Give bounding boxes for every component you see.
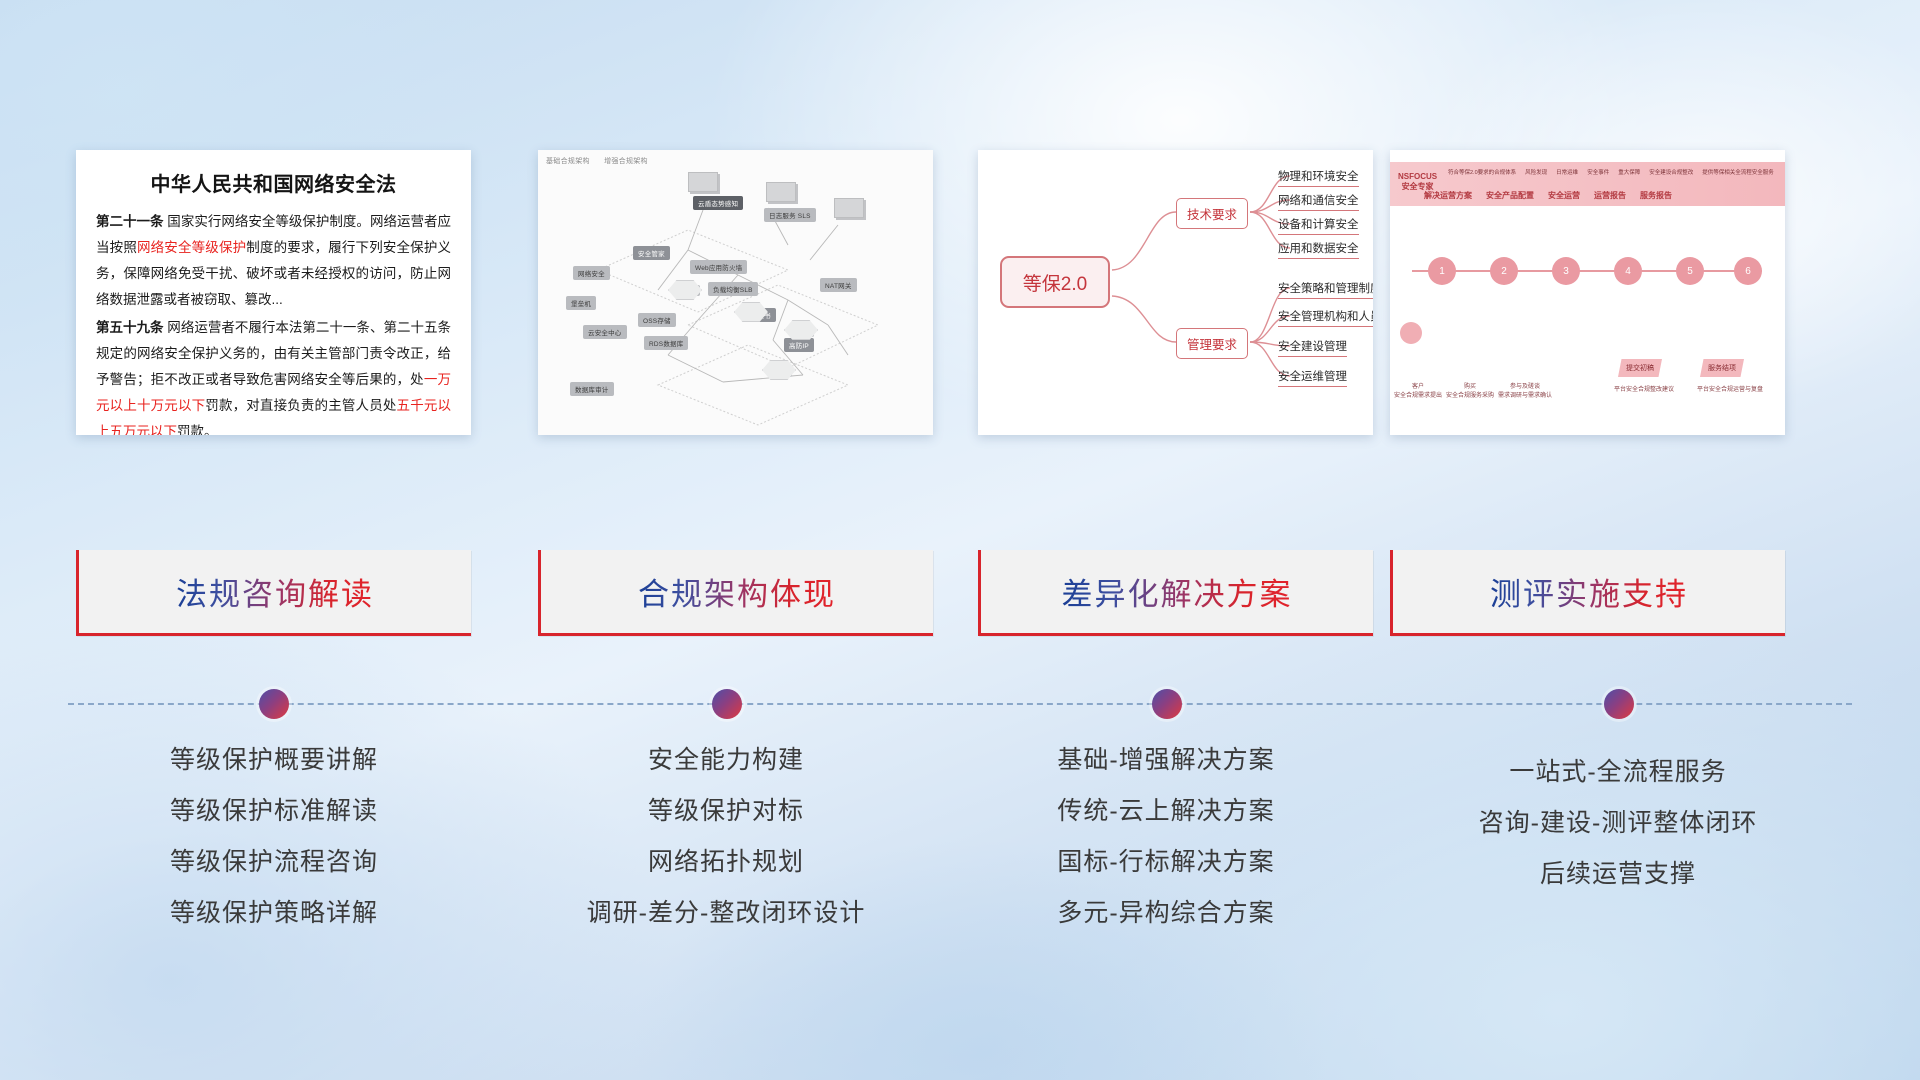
law-article-59-seg-4: 罚款。 <box>177 424 218 435</box>
roadmap-node-6[interactable]: 6 <box>1734 257 1762 285</box>
architecture-node-nat[interactable]: NAT网关 <box>820 278 857 292</box>
timeline-dashed-line <box>68 703 1852 705</box>
roadmap-service-4: 服务报告 <box>1640 190 1672 201</box>
roadmap-service-0: 解决运营方案 <box>1424 190 1472 201</box>
architecture-node-antiddos[interactable]: 高防IP <box>784 338 814 352</box>
roadmap-left-label-0: 客户 安全合规需求提出 <box>1394 383 1442 401</box>
roadmap-node-3[interactable]: 3 <box>1552 257 1580 285</box>
mindmap-leaf-physical[interactable]: 物理和环境安全 <box>1278 168 1359 187</box>
service-item[interactable]: 一站式-全流程服务 <box>1408 747 1828 798</box>
roadmap-top-label-3: 安全事件 <box>1587 168 1609 176</box>
mindmap-leaf-construction[interactable]: 安全建设管理 <box>1278 338 1347 357</box>
service-item[interactable]: 后续运营支撑 <box>1408 849 1828 900</box>
architecture-node-rds[interactable]: RDS数据库 <box>644 336 688 350</box>
roadmap: NSFOCUS 安全专家 符合等保2.0要求的合规体系 风险发现 日常运维 安全… <box>1390 150 1785 435</box>
service-item[interactable]: 网络拓扑规划 <box>516 837 936 888</box>
roadmap-top-label-6: 提供等保相关全流程安全服务 <box>1702 168 1774 176</box>
section-banner-label-1: 合规架构体现 <box>638 569 836 614</box>
service-item[interactable]: 等级保护标准解读 <box>64 786 484 837</box>
architecture-node-waf[interactable]: Web应用防火墙 <box>690 260 747 274</box>
service-item[interactable]: 基础-增强解决方案 <box>956 735 1376 786</box>
roadmap-right-sub-0: 平台安全合规整改建议 <box>1604 386 1684 395</box>
service-column-architecture: 安全能力构建 等级保护对标 网络拓扑规划 调研-差分-整改闭环设计 <box>516 735 936 939</box>
roadmap-right-tag-1[interactable]: 服务结项 <box>1700 359 1744 377</box>
roadmap-service-3: 运营报告 <box>1594 190 1626 201</box>
service-item[interactable]: 国标-行标解决方案 <box>956 837 1376 888</box>
law-article-21: 第二十一条 国家实行网络安全等级保护制度。网络运营者应当按照网络安全等级保护制度… <box>96 209 451 313</box>
mindmap-leaf-policy[interactable]: 安全策略和管理制度 <box>1278 280 1373 299</box>
card-compliance-architecture[interactable]: 基础合规架构 增强合规架构 <box>538 150 933 435</box>
card-mlps-mindmap[interactable]: 等保2.0 技术要求 管理要求 物理和环境安全 网络和通信安全 设备和计算安全 … <box>978 150 1373 435</box>
mindmap-leaf-application[interactable]: 应用和数据安全 <box>1278 240 1359 259</box>
card-service-roadmap[interactable]: NSFOCUS 安全专家 符合等保2.0要求的合规体系 风险发现 日常运维 安全… <box>1390 150 1785 435</box>
roadmap-right-sub-1: 平台安全合规运营与复盘 <box>1688 386 1772 395</box>
roadmap-left-sub-2: 需求调研与需求确认 <box>1498 392 1552 401</box>
architecture-node-netsec[interactable]: 网络安全 <box>573 266 610 280</box>
section-banner-label-0: 法规咨询解读 <box>176 569 374 614</box>
architecture-node-butler[interactable]: 安全管家 <box>633 246 670 260</box>
section-banner-regulation[interactable]: 法规咨询解读 <box>76 550 471 636</box>
roadmap-top-label-4: 重大保障 <box>1618 168 1640 176</box>
service-item[interactable]: 传统-云上解决方案 <box>956 786 1376 837</box>
law-article-21-label: 第二十一条 <box>96 214 164 229</box>
law-article-59: 第五十九条 网络运营者不履行本法第二十一条、第二十五条规定的网络安全保护义务的，… <box>96 315 451 435</box>
service-item[interactable]: 等级保护概要讲解 <box>64 735 484 786</box>
roadmap-service-row: 解决运营方案 安全产品配置 安全运营 运营报告 服务报告 <box>1424 190 1779 201</box>
card-cybersecurity-law[interactable]: 中华人民共和国网络安全法 第二十一条 国家实行网络安全等级保护制度。网络运营者应… <box>76 150 471 435</box>
mindmap-branch-technical[interactable]: 技术要求 <box>1176 198 1248 229</box>
roadmap-left-sub-0: 安全合规需求提出 <box>1394 392 1442 401</box>
architecture-diagram: 基础合规架构 增强合规架构 <box>538 150 933 435</box>
law-card-body: 中华人民共和国网络安全法 第二十一条 国家实行网络安全等级保护制度。网络运营者应… <box>76 150 471 435</box>
timeline-dot-4[interactable] <box>1604 689 1634 719</box>
roadmap-right-tag-0[interactable]: 提交初稿 <box>1618 359 1662 377</box>
architecture-node-slb[interactable]: 负载均衡SLB <box>708 282 758 296</box>
timeline <box>0 694 1920 714</box>
architecture-node-oss-store[interactable]: OSS存储 <box>638 313 676 327</box>
roadmap-node-2[interactable]: 2 <box>1490 257 1518 285</box>
section-banner-row: 法规咨询解读 合规架构体现 差异化解决方案 测评实施支持 <box>0 550 1920 636</box>
law-article-21-seg-1: 网络安全等级保护 <box>137 240 246 255</box>
service-item[interactable]: 安全能力构建 <box>516 735 936 786</box>
service-item[interactable]: 多元-异构综合方案 <box>956 888 1376 939</box>
roadmap-top-label-2: 日常运维 <box>1556 168 1578 176</box>
service-item[interactable]: 等级保护流程咨询 <box>64 837 484 888</box>
architecture-server-icon-3 <box>834 198 864 218</box>
service-item[interactable]: 等级保护对标 <box>516 786 936 837</box>
timeline-dot-2[interactable] <box>712 689 742 719</box>
roadmap-service-2: 安全运营 <box>1548 190 1580 201</box>
service-item[interactable]: 调研-差分-整改闭环设计 <box>516 888 936 939</box>
roadmap-left-label-2: 参与及磋谈 需求调研与需求确认 <box>1498 383 1552 401</box>
roadmap-brand: NSFOCUS 安全专家 <box>1398 172 1437 192</box>
mindmap: 等保2.0 技术要求 管理要求 物理和环境安全 网络和通信安全 设备和计算安全 … <box>978 150 1373 435</box>
architecture-server-icon-1 <box>688 172 718 192</box>
mindmap-leaf-network[interactable]: 网络和通信安全 <box>1278 192 1359 211</box>
section-banner-architecture[interactable]: 合规架构体现 <box>538 550 933 636</box>
section-banner-label-2: 差异化解决方案 <box>1062 569 1293 614</box>
law-article-59-seg-2: 罚款，对直接负责的主管人员处 <box>205 398 396 413</box>
card-row: 中华人民共和国网络安全法 第二十一条 国家实行网络安全等级保护制度。网络运营者应… <box>0 150 1920 435</box>
mindmap-branch-management[interactable]: 管理要求 <box>1176 328 1248 359</box>
architecture-node-situation[interactable]: 云盾态势感知 <box>693 196 743 210</box>
service-column-regulation: 等级保护概要讲解 等级保护标准解读 等级保护流程咨询 等级保护策略详解 <box>64 735 484 939</box>
section-banner-solution[interactable]: 差异化解决方案 <box>978 550 1373 636</box>
roadmap-top-label-1: 风险发现 <box>1525 168 1547 176</box>
roadmap-brand-name: NSFOCUS <box>1398 172 1437 182</box>
roadmap-left-sub-1: 安全合规服务采购 <box>1446 392 1494 401</box>
service-item[interactable]: 等级保护策略详解 <box>64 888 484 939</box>
mindmap-root[interactable]: 等保2.0 <box>1000 256 1110 308</box>
service-column-assessment: 一站式-全流程服务 咨询-建设-测评整体闭环 后续运营支撑 <box>1408 747 1828 900</box>
roadmap-node-4[interactable]: 4 <box>1614 257 1642 285</box>
customer-avatar-icon <box>1400 322 1422 344</box>
roadmap-left-title-1: 购买 <box>1446 383 1494 392</box>
section-banner-label-3: 测评实施支持 <box>1490 569 1688 614</box>
roadmap-left-title-2: 参与及磋谈 <box>1498 383 1552 392</box>
architecture-server-icon-2 <box>766 182 796 202</box>
roadmap-node-5[interactable]: 5 <box>1676 257 1704 285</box>
timeline-dot-3[interactable] <box>1152 689 1182 719</box>
roadmap-left-label-1: 购买 安全合规服务采购 <box>1446 383 1494 401</box>
mindmap-leaf-device[interactable]: 设备和计算安全 <box>1278 216 1359 235</box>
timeline-dot-1[interactable] <box>259 689 289 719</box>
law-title: 中华人民共和国网络安全法 <box>96 168 451 197</box>
architecture-node-dbaudit[interactable]: 数据库审计 <box>570 382 614 396</box>
roadmap-timeline-line <box>1412 270 1762 272</box>
mindmap-leaf-org[interactable]: 安全管理机构和人员 <box>1278 308 1373 327</box>
architecture-node-sls[interactable]: 日志服务 SLS <box>764 208 816 222</box>
architecture-node-bastion[interactable]: 堡垒机 <box>566 296 596 310</box>
architecture-node-cloudcenter[interactable]: 云安全中心 <box>583 325 627 339</box>
roadmap-top-label-5: 安全建设合规整改 <box>1649 168 1693 176</box>
infographic-page: 中华人民共和国网络安全法 第二十一条 国家实行网络安全等级保护制度。网络运营者应… <box>0 0 1920 1080</box>
law-article-59-label: 第五十九条 <box>96 320 164 335</box>
roadmap-top-label-0: 符合等保2.0要求的合规体系 <box>1448 168 1516 176</box>
roadmap-node-1[interactable]: 1 <box>1428 257 1456 285</box>
service-item[interactable]: 咨询-建设-测评整体闭环 <box>1408 798 1828 849</box>
roadmap-top-labels: 符合等保2.0要求的合规体系 风险发现 日常运维 安全事件 重大保障 安全建设合… <box>1448 168 1778 176</box>
roadmap-service-1: 安全产品配置 <box>1486 190 1534 201</box>
mindmap-leaf-operation[interactable]: 安全运维管理 <box>1278 368 1347 387</box>
roadmap-left-title-0: 客户 <box>1394 383 1442 392</box>
service-column-solution: 基础-增强解决方案 传统-云上解决方案 国标-行标解决方案 多元-异构综合方案 <box>956 735 1376 939</box>
section-banner-assessment[interactable]: 测评实施支持 <box>1390 550 1785 636</box>
